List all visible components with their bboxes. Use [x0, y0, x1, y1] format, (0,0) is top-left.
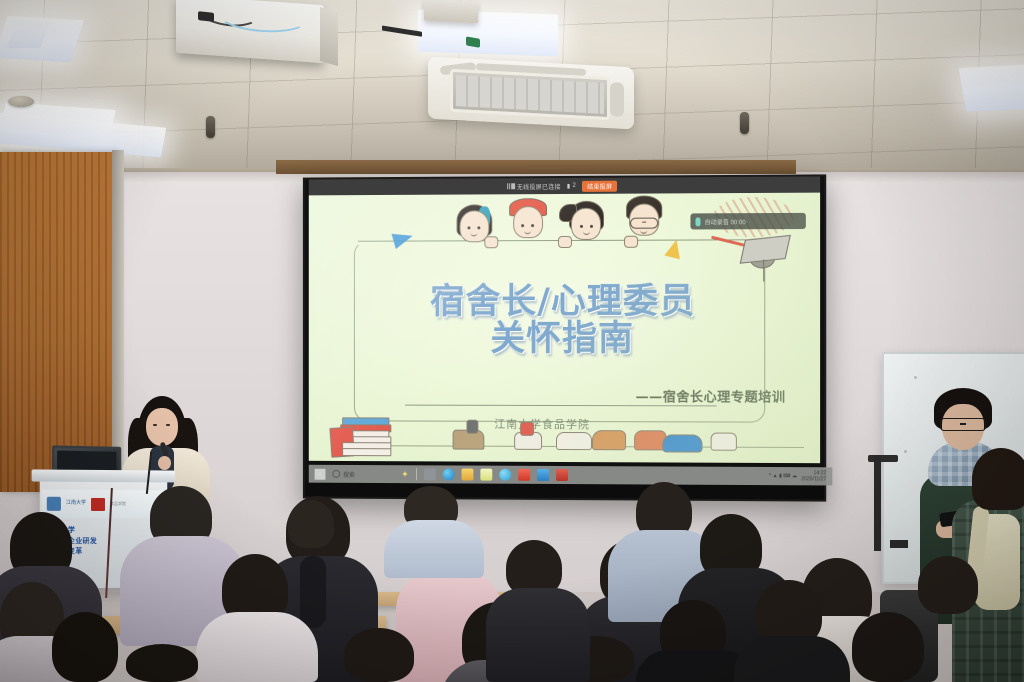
search-placeholder: 搜索: [343, 469, 355, 478]
cast-battery-label: 2: [572, 183, 576, 189]
slide-organization: 江南大学食品学院: [494, 416, 590, 432]
slide-subtitle: ——宿舍长心理专题培训: [636, 386, 786, 405]
ac-grille-slats: [456, 75, 604, 114]
projector-side-panel: [320, 7, 338, 66]
presenter-hand: [158, 456, 171, 470]
taskbar-search[interactable]: 搜索: [332, 469, 355, 478]
presentation-slide: 自动录音 00:00 宿舍长/心理委员 关怀指南 ——宿舍长心理专题培训 江南大…: [309, 193, 820, 464]
cartoon-hand: [558, 236, 572, 248]
screen-bezel: [305, 483, 824, 500]
shoe-illustration: [662, 434, 702, 452]
cast-signal-label: 无线投屏已连接: [517, 182, 561, 191]
whiteboard-stand-post: [874, 455, 881, 551]
recording-overlay-widget[interactable]: 自动录音 00:00: [690, 213, 805, 230]
storage-icon[interactable]: [537, 469, 549, 481]
ceiling-mount-bracket: [424, 0, 478, 23]
ac-intake-grille: [450, 69, 610, 120]
shoe-illustration: [556, 432, 592, 450]
slide-title-line1: 宿舍长/心理委员: [430, 282, 695, 322]
taskbar-tray[interactable]: ^ ▲ ▮ ⌨ ☁ 14:22 2025/11/27: [769, 470, 826, 483]
shoe-sock: [466, 420, 478, 434]
edge-browser-icon[interactable]: [442, 468, 454, 480]
grad-cap-tassel: [763, 259, 764, 281]
presenter-face: [146, 408, 178, 446]
cast-signal-indicator: 无线投屏已连接: [507, 182, 561, 191]
wps-icon[interactable]: [518, 469, 530, 481]
sparkle-icon: ✦: [401, 469, 408, 480]
ceiling-cassette-ac: [428, 57, 634, 130]
cartoon-girl-ponytail: [568, 200, 602, 240]
ceiling-sensor-icon: [740, 112, 749, 134]
microphone-icon: [695, 217, 700, 226]
cartoon-boy-red-cap: [510, 198, 544, 238]
ceiling-sensor-icon: [206, 116, 215, 138]
tray-icons[interactable]: ^ ▲ ▮ ⌨ ☁: [769, 473, 797, 479]
cartoon-hand: [624, 236, 638, 248]
search-icon: [332, 470, 340, 478]
wood-partition-wall: [0, 152, 118, 492]
shoe-illustration: [711, 433, 737, 451]
notes-icon[interactable]: [480, 469, 492, 481]
eyeglasses-icon: [940, 418, 986, 431]
clock-time: 14:22: [813, 470, 826, 476]
end-cast-button[interactable]: 结束投屏: [582, 180, 617, 191]
signal-bars-icon: [507, 183, 515, 189]
cast-battery-indicator: ▮ 2: [567, 182, 576, 189]
office-icon[interactable]: [556, 469, 568, 481]
cartoon-hand: [484, 236, 498, 248]
student-hair: [972, 448, 1024, 510]
ceiling-light-panel: [958, 64, 1024, 112]
slide-title-line2: 关怀指南: [309, 321, 820, 358]
college-logo-icon: [91, 497, 105, 510]
taskbar-clock[interactable]: 14:22 2025/11/27: [801, 470, 826, 483]
stacked-books-illustration: [330, 417, 393, 457]
ac-vane: [610, 82, 624, 117]
whiteboard-stand-foot: [890, 540, 908, 548]
shoe-sock: [520, 422, 534, 436]
shoe-illustration: [592, 430, 626, 450]
start-button-icon[interactable]: [315, 468, 326, 479]
file-explorer-icon[interactable]: [461, 469, 473, 481]
graduation-cap-icon: [743, 233, 790, 267]
screen-valance: [276, 160, 796, 174]
clock-date: 2025/11/27: [801, 476, 826, 482]
projection-screen[interactable]: 无线投屏已连接 ▮ 2 结束投屏: [303, 174, 826, 501]
browser-icon[interactable]: [499, 469, 511, 481]
battery-icon: ▮: [567, 182, 571, 189]
slide-title: 宿舍长/心理委员 关怀指南: [309, 283, 820, 357]
cartoon-boy-glasses: [626, 195, 660, 235]
university-logo-icon: [47, 497, 61, 511]
classroom-scene: 无线投屏已连接 ▮ 2 结束投屏: [0, 0, 1024, 682]
college-logo-label: 食品学院: [110, 501, 126, 507]
grad-cap-board: [740, 235, 791, 264]
projector-plug: [198, 11, 214, 22]
lectern-top: [32, 469, 175, 482]
recording-overlay-label: 自动录音 00:00: [705, 217, 746, 226]
student-with-backpack: [968, 448, 1024, 682]
ceiling-speaker-dome: [8, 96, 34, 107]
taskbar-divider: [416, 468, 417, 480]
university-logo-label: 江南大学: [66, 501, 86, 507]
task-view-icon[interactable]: [423, 468, 435, 480]
whiteboard-stand-arm: [868, 455, 898, 462]
